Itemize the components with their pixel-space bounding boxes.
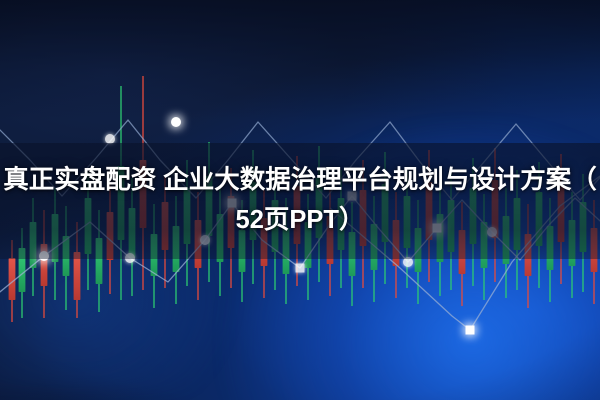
data-point-square-marker (296, 264, 305, 273)
data-point-circle-marker (171, 117, 181, 127)
page-title-line-1: 真正实盘配资 企业大数据治理平台规划与设计方案（ (3, 166, 597, 194)
candle-body (74, 252, 81, 300)
page-title-line-2: 52页PPT） (0, 200, 600, 240)
candle-body (9, 258, 16, 300)
page-title: 真正实盘配资 企业大数据治理平台规划与设计方案（ 52页PPT） (0, 160, 600, 240)
banner-image: 真正实盘配资 企业大数据治理平台规划与设计方案（ 52页PPT） (0, 0, 600, 400)
data-point-square-marker (466, 326, 475, 335)
